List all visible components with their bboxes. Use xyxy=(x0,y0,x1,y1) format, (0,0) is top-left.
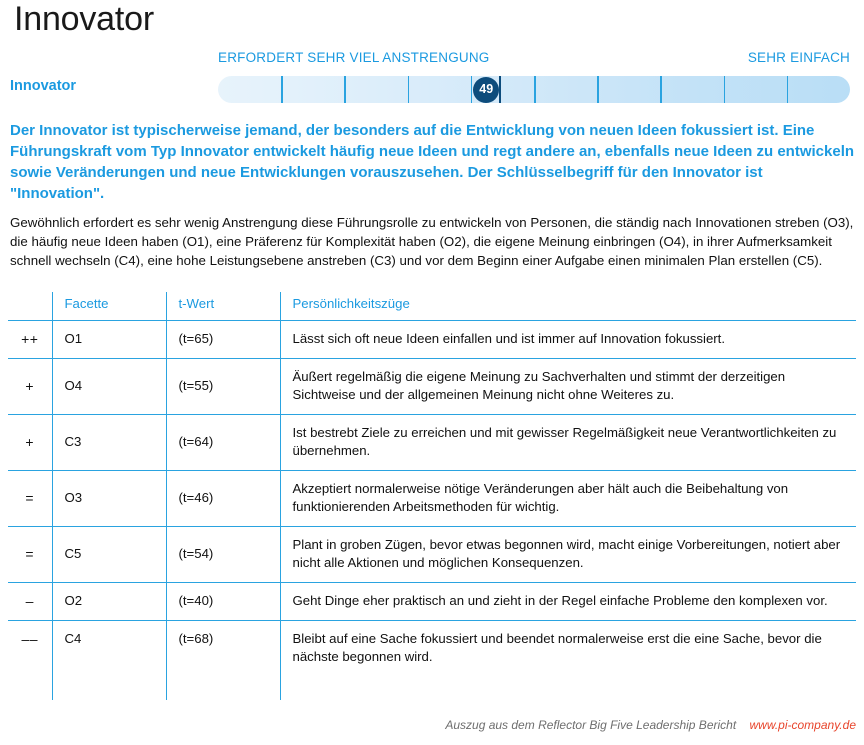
scale-marker-value: 49 xyxy=(473,77,499,103)
cell-symbol: + xyxy=(8,359,52,415)
scale-tick xyxy=(534,76,536,103)
scale-label-right: SEHR EINFACH xyxy=(748,50,850,65)
scale-tick xyxy=(471,76,473,103)
cell-facet: O1 xyxy=(52,321,166,359)
scale-end-labels: ERFORDERT SEHR VIEL ANSTRENGUNG SEHR EIN… xyxy=(218,50,850,68)
cell-traits: Plant in groben Zügen, bevor etwas begon… xyxy=(280,527,856,583)
scale-tick xyxy=(281,76,283,103)
cell-symbol: + xyxy=(8,415,52,471)
table-row: =C5(t=54)Plant in groben Zügen, bevor et… xyxy=(8,527,856,583)
cell-tvalue: (t=64) xyxy=(166,415,280,471)
scale-marker-line xyxy=(499,76,501,103)
cell-symbol: = xyxy=(8,527,52,583)
column-header-tvalue: t-Wert xyxy=(166,292,280,321)
cell-traits: Äußert regelmäßig die eigene Meinung zu … xyxy=(280,359,856,415)
cell-facet: C4 xyxy=(52,621,166,701)
cell-symbol: –– xyxy=(8,621,52,701)
cell-traits: Bleibt auf eine Sache fokussiert und bee… xyxy=(280,621,856,701)
column-header-traits: Persönlichkeitszüge xyxy=(280,292,856,321)
cell-tvalue: (t=68) xyxy=(166,621,280,701)
scale-tick xyxy=(724,76,726,103)
cell-symbol: – xyxy=(8,583,52,621)
footer-note: Auszug aus dem Reflector Big Five Leader… xyxy=(445,718,736,732)
intro-paragraph: Der Innovator ist typischerweise jemand,… xyxy=(10,120,855,204)
cell-tvalue: (t=46) xyxy=(166,471,280,527)
body-paragraph: Gewöhnlich erfordert es sehr wenig Anstr… xyxy=(10,213,858,270)
scale-row-name: Innovator xyxy=(10,78,76,94)
column-header-facet: Facette xyxy=(52,292,166,321)
cell-facet: O3 xyxy=(52,471,166,527)
table-row: –O2(t=40)Geht Dinge eher praktisch an un… xyxy=(8,583,856,621)
scale-tick xyxy=(408,76,410,103)
cell-symbol: ++ xyxy=(8,321,52,359)
table-header-row: Facette t-Wert Persönlichkeitszüge xyxy=(8,292,856,321)
cell-tvalue: (t=40) xyxy=(166,583,280,621)
cell-tvalue: (t=55) xyxy=(166,359,280,415)
table-row: ++O1(t=65)Lässt sich oft neue Ideen einf… xyxy=(8,321,856,359)
cell-traits: Akzeptiert normalerweise nötige Veränder… xyxy=(280,471,856,527)
scale-tick xyxy=(597,76,599,103)
footer-url[interactable]: www.pi-company.de xyxy=(750,718,857,732)
cell-tvalue: (t=65) xyxy=(166,321,280,359)
cell-traits: Geht Dinge eher praktisch an und zieht i… xyxy=(280,583,856,621)
cell-facet: C5 xyxy=(52,527,166,583)
scale-tick xyxy=(344,76,346,103)
column-header-symbol xyxy=(8,292,52,321)
table-row: =O3(t=46)Akzeptiert normalerweise nötige… xyxy=(8,471,856,527)
cell-traits: Lässt sich oft neue Ideen einfallen und … xyxy=(280,321,856,359)
footer: Auszug aus dem Reflector Big Five Leader… xyxy=(0,718,856,732)
cell-traits: Ist bestrebt Ziele zu erreichen und mit … xyxy=(280,415,856,471)
cell-symbol: = xyxy=(8,471,52,527)
scale-tick xyxy=(787,76,789,103)
page-title: Innovator xyxy=(14,0,154,40)
facet-table: Facette t-Wert Persönlichkeitszüge ++O1(… xyxy=(8,292,856,700)
scale-tick xyxy=(660,76,662,103)
cell-tvalue: (t=54) xyxy=(166,527,280,583)
scale-block: ERFORDERT SEHR VIEL ANSTRENGUNG SEHR EIN… xyxy=(0,50,864,108)
scale-track xyxy=(218,76,850,103)
table-row: ––C4(t=68)Bleibt auf eine Sache fokussie… xyxy=(8,621,856,701)
table-row: +O4(t=55)Äußert regelmäßig die eigene Me… xyxy=(8,359,856,415)
cell-facet: O2 xyxy=(52,583,166,621)
cell-facet: O4 xyxy=(52,359,166,415)
table-row: +C3(t=64)Ist bestrebt Ziele zu erreichen… xyxy=(8,415,856,471)
scale-label-left: ERFORDERT SEHR VIEL ANSTRENGUNG xyxy=(218,50,490,65)
cell-facet: C3 xyxy=(52,415,166,471)
